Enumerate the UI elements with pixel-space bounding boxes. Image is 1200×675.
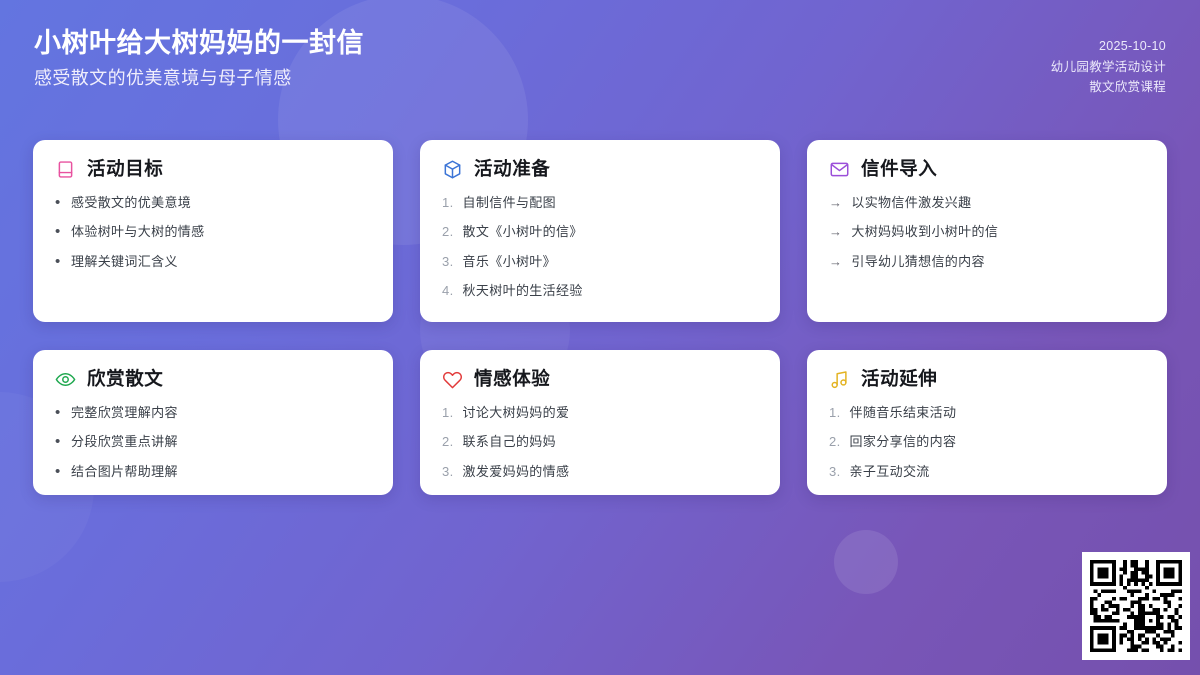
package-icon [442,159,463,180]
list-item: •理解关键词汇含义 [55,254,371,270]
list-item-text: 理解关键词汇含义 [71,254,371,270]
list-item: •感受散文的优美意境 [55,195,371,211]
list-item-text: 联系自己的妈妈 [463,434,758,450]
arrow-right-icon: → [829,195,842,211]
list-item: 3.音乐《小树叶》 [442,254,758,270]
card-activity-preparation: 活动准备1.自制信件与配图2.散文《小树叶的信》3.音乐《小树叶》4.秋天树叶的… [420,140,780,322]
list-item: →引导幼儿猜想信的内容 [829,254,1145,270]
list-marker-number: 3. [442,464,454,480]
list-marker-number: 2. [442,224,454,240]
list-marker-number: 2. [829,434,841,450]
list-item-text: 伴随音乐结束活动 [850,405,1145,421]
list-item: 1.自制信件与配图 [442,195,758,211]
card-item-list: •感受散文的优美意境•体验树叶与大树的情感•理解关键词汇含义 [55,195,371,270]
card-activity-goals: 活动目标•感受散文的优美意境•体验树叶与大树的情感•理解关键词汇含义 [33,140,393,322]
list-marker-bullet: • [55,195,62,210]
card-item-list: •完整欣赏理解内容•分段欣赏重点讲解•结合图片帮助理解 [55,405,371,480]
slide-root: 小树叶给大树妈妈的一封信 感受散文的优美意境与母子情感 2025-10-10 幼… [0,0,1200,675]
list-item: 4.秋天树叶的生活经验 [442,283,758,299]
card-activity-extension: 活动延伸1.伴随音乐结束活动2.回家分享信的内容3.亲子互动交流 [807,350,1167,495]
list-item: →大树妈妈收到小树叶的信 [829,224,1145,240]
list-item: •结合图片帮助理解 [55,464,371,480]
list-item-text: 散文《小树叶的信》 [463,224,758,240]
qr-code-container[interactable] [1082,552,1190,660]
qr-code [1090,560,1182,652]
list-marker-number: 4. [442,283,454,299]
list-item-text: 回家分享信的内容 [850,434,1145,450]
list-item: →以实物信件激发兴趣 [829,195,1145,211]
list-marker-bullet: • [55,224,62,239]
card-grid: 活动目标•感受散文的优美意境•体验树叶与大树的情感•理解关键词汇含义活动准备1.… [33,140,1167,495]
header-meta-block: 2025-10-10 幼儿园教学活动设计 散文欣赏课程 [1051,26,1166,98]
list-item-text: 秋天树叶的生活经验 [463,283,758,299]
meta-course: 散文欣赏课程 [1051,77,1166,98]
list-marker-bullet: • [55,254,62,269]
card-title: 信件导入 [861,160,937,179]
list-marker-number: 3. [829,464,841,480]
list-marker-number: 1. [442,405,454,421]
card-title: 活动延伸 [861,370,937,389]
page-subtitle: 感受散文的优美意境与母子情感 [34,65,364,91]
list-item-text: 引导幼儿猜想信的内容 [851,254,1145,270]
header-title-block: 小树叶给大树妈妈的一封信 感受散文的优美意境与母子情感 [34,26,364,91]
card-title: 情感体验 [474,370,550,389]
list-item: 2.联系自己的妈妈 [442,434,758,450]
card-appreciate-prose: 欣赏散文•完整欣赏理解内容•分段欣赏重点讲解•结合图片帮助理解 [33,350,393,495]
list-item: 1.伴随音乐结束活动 [829,405,1145,421]
list-marker-bullet: • [55,434,62,449]
list-marker-number: 1. [829,405,841,421]
list-item-text: 亲子互动交流 [850,464,1145,480]
card-item-list: 1.伴随音乐结束活动2.回家分享信的内容3.亲子互动交流 [829,405,1145,480]
card-title: 欣赏散文 [87,370,163,389]
card-header: 活动延伸 [829,369,1145,390]
card-item-list: 1.自制信件与配图2.散文《小树叶的信》3.音乐《小树叶》4.秋天树叶的生活经验 [442,195,758,299]
list-item-text: 激发爱妈妈的情感 [463,464,758,480]
card-emotional-experience: 情感体验1.讨论大树妈妈的爱2.联系自己的妈妈3.激发爱妈妈的情感 [420,350,780,495]
list-item-text: 结合图片帮助理解 [71,464,371,480]
list-item: •分段欣赏重点讲解 [55,434,371,450]
meta-category: 幼儿园教学活动设计 [1051,57,1166,78]
mail-icon [829,159,850,180]
list-marker-bullet: • [55,464,62,479]
list-marker-bullet: • [55,405,62,420]
arrow-right-icon: → [829,254,842,270]
card-title: 活动目标 [87,160,163,179]
list-item-text: 分段欣赏重点讲解 [71,434,371,450]
list-item-text: 完整欣赏理解内容 [71,405,371,421]
list-item: 3.激发爱妈妈的情感 [442,464,758,480]
list-item-text: 讨论大树妈妈的爱 [463,405,758,421]
list-marker-number: 3. [442,254,454,270]
meta-date: 2025-10-10 [1051,36,1166,57]
card-title: 活动准备 [474,160,550,179]
slide-header: 小树叶给大树妈妈的一封信 感受散文的优美意境与母子情感 2025-10-10 幼… [0,0,1200,98]
list-item: 1.讨论大树妈妈的爱 [442,405,758,421]
heart-icon [442,369,463,390]
list-item: •完整欣赏理解内容 [55,405,371,421]
card-item-list: 1.讨论大树妈妈的爱2.联系自己的妈妈3.激发爱妈妈的情感 [442,405,758,480]
card-header: 欣赏散文 [55,369,371,390]
decor-circle-small [834,530,898,594]
book-icon [55,159,76,180]
eye-icon [55,369,76,390]
list-item-text: 大树妈妈收到小树叶的信 [851,224,1145,240]
list-item: 2.散文《小树叶的信》 [442,224,758,240]
list-item-text: 音乐《小树叶》 [463,254,758,270]
list-item: 3.亲子互动交流 [829,464,1145,480]
arrow-right-icon: → [829,224,842,240]
card-header: 活动准备 [442,159,758,180]
card-header: 活动目标 [55,159,371,180]
list-item: •体验树叶与大树的情感 [55,224,371,240]
list-item: 2.回家分享信的内容 [829,434,1145,450]
list-item-text: 自制信件与配图 [463,195,758,211]
card-header: 情感体验 [442,369,758,390]
list-marker-number: 2. [442,434,454,450]
page-title: 小树叶给大树妈妈的一封信 [34,26,364,61]
card-header: 信件导入 [829,159,1145,180]
card-item-list: →以实物信件激发兴趣→大树妈妈收到小树叶的信→引导幼儿猜想信的内容 [829,195,1145,270]
list-item-text: 以实物信件激发兴趣 [851,195,1145,211]
list-item-text: 感受散文的优美意境 [71,195,371,211]
list-item-text: 体验树叶与大树的情感 [71,224,371,240]
list-marker-number: 1. [442,195,454,211]
music-note-icon [829,369,850,390]
card-letter-introduction: 信件导入→以实物信件激发兴趣→大树妈妈收到小树叶的信→引导幼儿猜想信的内容 [807,140,1167,322]
